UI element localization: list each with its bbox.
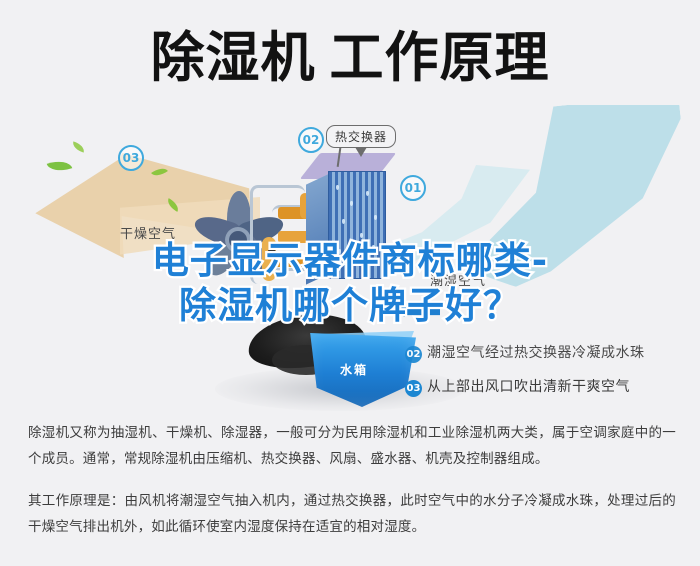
step-item: 02 潮湿空气经过热交换器冷凝成水珠 [405, 345, 695, 363]
step-item: 03 从上部出风口吹出清新干爽空气 [405, 379, 695, 397]
title-part-1: 除湿机 [151, 26, 316, 89]
poster-page: 除湿机工作原理 干燥空气 ▶ ▲ [0, 0, 700, 566]
leaf-icon [71, 141, 86, 152]
water-tank-label: 水箱 [340, 361, 368, 378]
air-inlet-arrow-icon [392, 301, 440, 317]
title-text: 除湿机工作原理 [151, 28, 550, 88]
page-title: 除湿机工作原理 [0, 22, 700, 94]
body-copy: 除湿机又称为抽湿机、干燥机、除湿器，一般可分为民用除湿机和工业除湿机两大类，属于… [28, 420, 676, 556]
marker-02: 02 [298, 127, 324, 153]
marker-03: 03 [118, 145, 144, 171]
wet-air-swoosh [350, 105, 700, 337]
leaf-icon [47, 157, 73, 176]
step-badge: 02 [405, 346, 422, 363]
step-text: 潮湿空气经过热交换器冷凝成水珠 [427, 345, 645, 362]
body-paragraph-1: 除湿机又称为抽湿机、干燥机、除湿器，一般可分为民用除湿机和工业除湿机两大类，属于… [28, 420, 676, 472]
wet-air-label: 潮湿空气 [430, 270, 486, 289]
dehumidifier-diagram: 干燥空气 ▶ ▲ ▼ [0, 105, 700, 415]
body-paragraph-2: 其工作原理是：由风机将潮湿空气抽入机内，通过热交换器，此时空气中的水分子冷凝成水… [28, 488, 676, 540]
heat-exchanger-callout: 热交换器 [326, 125, 396, 148]
step-badge: 03 [405, 380, 422, 397]
step-text: 从上部出风口吹出清新干爽空气 [427, 379, 630, 396]
title-part-2: 工作原理 [330, 26, 550, 89]
step-list: 02 潮湿空气经过热交换器冷凝成水珠 03 从上部出风口吹出清新干爽空气 [405, 345, 695, 413]
marker-01: 01 [400, 175, 426, 201]
dry-air-label: 干燥空气 [120, 223, 176, 242]
heat-exchanger [322, 157, 398, 285]
